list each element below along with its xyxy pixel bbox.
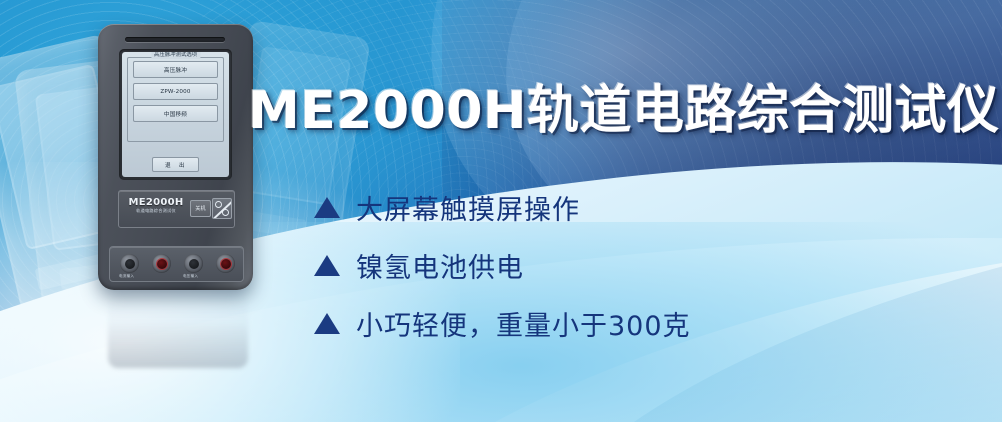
feature-text: 镍氢电池供电: [356, 246, 524, 285]
device-branding: ME2000H 轨道电路综合测试仪: [125, 197, 187, 214]
port-black-current[interactable]: [120, 254, 139, 273]
feature-text: 大屏幕触摸屏操作: [356, 188, 580, 227]
sun-dot-icon: [215, 201, 222, 208]
product-banner: 高压脉冲测试选项 高压脉冲 ZPW-2000 中国移频 退 出 ME2000H …: [0, 0, 1002, 422]
screen-exit-button[interactable]: 退 出: [152, 157, 199, 172]
feature-item: 大屏幕触摸屏操作: [314, 178, 691, 236]
gear-dot-icon: [222, 209, 229, 216]
port-red-voltage[interactable]: [216, 254, 235, 273]
triangle-bullet-icon: [314, 197, 340, 218]
port-red-current[interactable]: [152, 254, 171, 273]
screen-menu-item-2[interactable]: 中国移频: [133, 105, 218, 122]
triangle-bullet-icon: [314, 313, 340, 334]
device-port-bar: 电流输入 电压输入: [109, 246, 244, 282]
device-top-slot: [125, 37, 225, 42]
screen-menu-item-1[interactable]: ZPW-2000: [133, 83, 218, 100]
device-screen-bezel: 高压脉冲测试选项 高压脉冲 ZPW-2000 中国移频 退 出: [119, 49, 232, 180]
brightness-contrast-icon[interactable]: [212, 198, 232, 219]
feature-list: 大屏幕触摸屏操作 镍氢电池供电 小巧轻便，重量小于300克: [314, 178, 691, 352]
device-subtitle-text: 轨道电路综合测试仪: [125, 208, 187, 214]
feature-item: 镍氢电池供电: [314, 236, 691, 294]
banner-headline: ME2000H轨道电路综合测试仪: [248, 82, 1000, 140]
screen-menu-item-0[interactable]: 高压脉冲: [133, 61, 218, 78]
feature-text: 小巧轻便，重量小于300克: [356, 304, 691, 343]
port-black-voltage[interactable]: [184, 254, 203, 273]
port-label-voltage: 电压输入: [183, 274, 198, 279]
port-label-current: 电流输入: [119, 274, 134, 279]
device-lcd-screen: 高压脉冲测试选项 高压脉冲 ZPW-2000 中国移频 退 出: [122, 52, 229, 177]
device-reflection: [108, 292, 248, 368]
feature-item: 小巧轻便，重量小于300克: [314, 294, 691, 352]
product-device-image: 高压脉冲测试选项 高压脉冲 ZPW-2000 中国移频 退 出 ME2000H …: [98, 24, 253, 290]
device-label-panel: ME2000H 轨道电路综合测试仪 关机: [118, 190, 235, 228]
screen-title: 高压脉冲测试选项: [151, 52, 200, 59]
device-model-text: ME2000H: [125, 197, 187, 208]
device-power-off-key[interactable]: 关机: [190, 200, 211, 217]
triangle-bullet-icon: [314, 255, 340, 276]
